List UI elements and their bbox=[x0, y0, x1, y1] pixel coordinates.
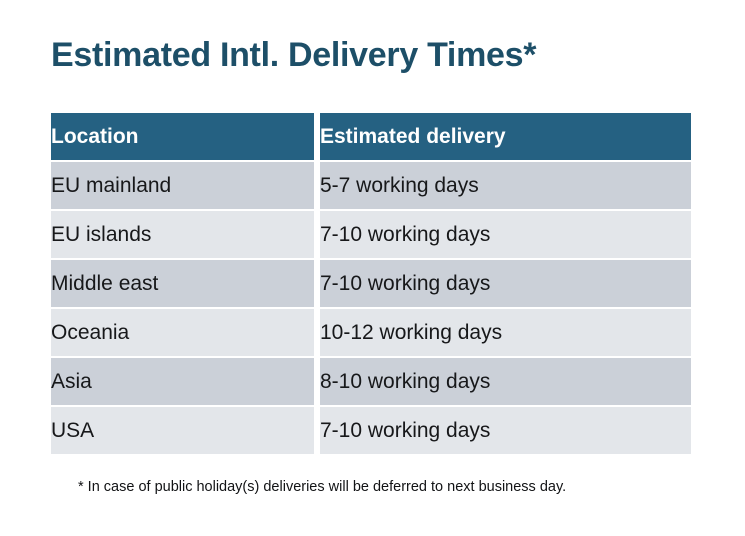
column-header-location: Location bbox=[51, 113, 314, 160]
cell-delivery: 7-10 working days bbox=[320, 211, 691, 258]
cell-location: USA bbox=[51, 407, 314, 454]
column-header-estimated-delivery: Estimated delivery bbox=[320, 113, 691, 160]
cell-delivery: 7-10 working days bbox=[320, 407, 691, 454]
table-row: Oceania 10-12 working days bbox=[51, 309, 691, 356]
table-row: EU islands 7-10 working days bbox=[51, 211, 691, 258]
footnote-text: * In case of public holiday(s) deliverie… bbox=[78, 479, 566, 495]
table-row: USA 7-10 working days bbox=[51, 407, 691, 454]
cell-delivery: 7-10 working days bbox=[320, 260, 691, 307]
table-row: EU mainland 5-7 working days bbox=[51, 162, 691, 209]
cell-location: Asia bbox=[51, 358, 314, 405]
cell-delivery: 10-12 working days bbox=[320, 309, 691, 356]
page-title: Estimated Intl. Delivery Times* bbox=[51, 36, 536, 75]
table-header: Location Estimated delivery bbox=[51, 113, 691, 160]
delivery-times-page: Estimated Intl. Delivery Times* Location… bbox=[0, 0, 745, 536]
cell-delivery: 8-10 working days bbox=[320, 358, 691, 405]
table-header-row: Location Estimated delivery bbox=[51, 113, 691, 160]
estimated-delivery-table: Location Estimated delivery EU mainland … bbox=[51, 113, 691, 454]
cell-location: EU mainland bbox=[51, 162, 314, 209]
cell-location: EU islands bbox=[51, 211, 314, 258]
table-body: EU mainland 5-7 working days EU islands … bbox=[51, 160, 691, 454]
cell-location: Oceania bbox=[51, 309, 314, 356]
table-row: Middle east 7-10 working days bbox=[51, 260, 691, 307]
cell-delivery: 5-7 working days bbox=[320, 162, 691, 209]
table-row: Asia 8-10 working days bbox=[51, 358, 691, 405]
cell-location: Middle east bbox=[51, 260, 314, 307]
